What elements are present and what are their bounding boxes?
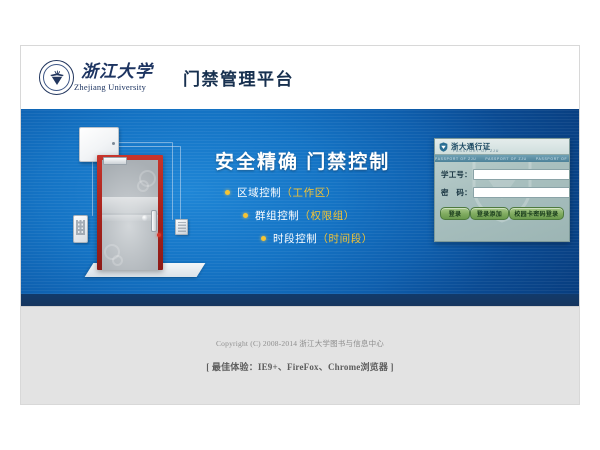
site-footer: Copyright (C) 2008-2014 浙江大学图书与信息中心 [ 最佳…: [21, 306, 579, 404]
list-item: 区域控制 （工作区）: [225, 185, 373, 200]
copyright-text: Copyright (C) 2008-2014 浙江大学图书与信息中心: [21, 307, 579, 349]
list-item: 群组控制 （权限组）: [243, 208, 373, 223]
wire-controller-to-keypad: [92, 160, 93, 216]
browser-support-text: [ 最佳体验：IE9+、FireFox、Chrome浏览器 ]: [21, 349, 579, 373]
watermark-text: PASSPORT OF ZJU: [485, 157, 535, 161]
login-panel: 浙大通行证 PASSPORT OF ZJU PASSPORT OF ZJU PA…: [434, 138, 570, 242]
bullet-paren: （时间段）: [317, 231, 373, 246]
bullet-label: 群组控制: [255, 208, 299, 223]
door-leaf: [102, 160, 158, 270]
hero-banner: 安全精确 门禁控制 区域控制 （工作区） 群组控制 （权限组） 时段控制 （时间…: [21, 109, 579, 306]
wire-to-reader-2: [180, 146, 181, 219]
bullet-paren: （权限组）: [299, 208, 355, 223]
university-name-en: Zhejiang University: [74, 83, 153, 92]
door-glass-band: [102, 197, 158, 212]
password-label: 密 码：: [441, 187, 473, 198]
indicator-lamp-icon: [157, 233, 161, 237]
watermark-text: PASSPORT OF ZJU: [435, 157, 485, 161]
login-add-button[interactable]: 登录添加: [470, 207, 509, 220]
wire-to-reader-1: [172, 142, 173, 220]
shield-icon: [439, 142, 448, 152]
wire-controller-top: [117, 142, 172, 143]
bullet-dot-icon: [225, 190, 230, 195]
password-input[interactable]: [473, 187, 570, 198]
keypad-icon: [73, 215, 88, 243]
zju-seal-icon: [39, 60, 74, 95]
campus-card-login-button[interactable]: 校园卡密码登录: [509, 207, 564, 220]
gear-icon-lower-small: [112, 255, 123, 266]
zju-wordmark: 浙江大学 Zhejiang University: [74, 63, 153, 92]
university-name-cn: 浙江大学: [81, 63, 153, 80]
banner-bottom-bar: [21, 294, 579, 306]
login-button[interactable]: 登录: [440, 207, 470, 220]
door-knob-icon: [142, 215, 148, 221]
login-panel-header: 浙大通行证 PASSPORT OF ZJU: [435, 139, 569, 155]
site-header: 浙江大学 Zhejiang University 门禁管理平台: [21, 46, 579, 109]
seal-bird-glyph: [47, 68, 67, 88]
bullet-label: 区域控制: [237, 185, 281, 200]
passport-watermark-strip: PASSPORT OF ZJU PASSPORT OF ZJU PASSPORT…: [435, 155, 569, 162]
field-row-password: 密 码：: [441, 187, 563, 198]
bullet-dot-icon: [243, 213, 248, 218]
bullet-dot-icon: [261, 236, 266, 241]
door-glass-band-2: [102, 215, 158, 221]
student-staff-id-label: 学工号：: [441, 169, 473, 180]
door-handle-icon: [151, 210, 157, 232]
feature-bullet-list: 区域控制 （工作区） 群组控制 （权限组） 时段控制 （时间段）: [225, 185, 373, 254]
access-control-door-illustration: [51, 115, 211, 300]
student-staff-id-input[interactable]: [473, 169, 570, 180]
watermark-text: PASSPORT OF ZJU: [536, 157, 569, 161]
gear-icon-small: [137, 180, 149, 192]
bullet-label: 时段控制: [273, 231, 317, 246]
list-item: 时段控制 （时间段）: [261, 231, 373, 246]
field-row-userid: 学工号：: [441, 169, 563, 180]
bullet-paren: （工作区）: [281, 185, 337, 200]
login-panel-subtitle: PASSPORT OF ZJU: [453, 149, 499, 153]
banner-headline: 安全精确 门禁控制: [215, 147, 390, 174]
zju-logo[interactable]: 浙江大学 Zhejiang University: [39, 60, 153, 95]
card-reader-icon: [175, 219, 188, 235]
wire-controller-top-2: [117, 146, 180, 147]
app-page: 浙江大学 Zhejiang University 门禁管理平台: [20, 45, 580, 405]
page-title: 门禁管理平台: [183, 65, 294, 90]
door-closer-icon: [103, 157, 127, 165]
login-button-row: 登录 登录添加 校园卡密码登录: [440, 207, 564, 220]
